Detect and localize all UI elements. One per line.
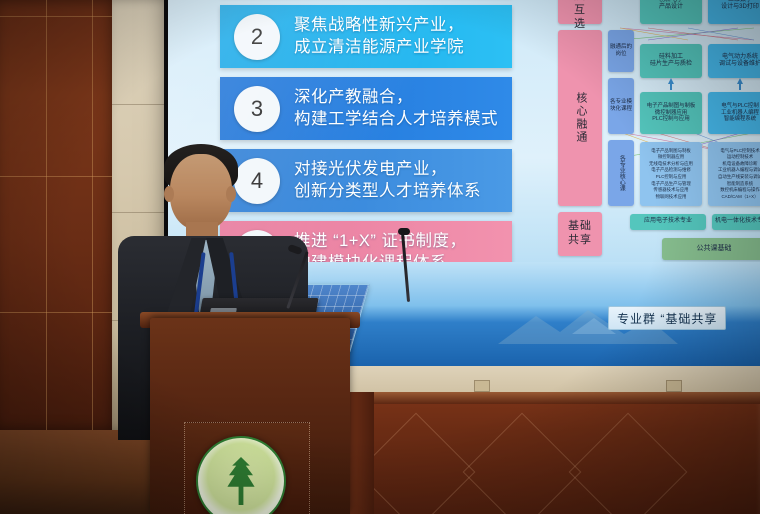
speaker-ear-left — [164, 186, 174, 202]
wall-wood-panel — [0, 0, 118, 430]
speaker-head — [170, 154, 232, 230]
speaker-ear-right — [226, 186, 236, 202]
conference-photo-scene: 构建课程资源框架体系 2 聚焦战略性新兴产业， 成立清洁能源产业学院 3 深化产… — [0, 0, 760, 514]
emblem-tree-icon — [221, 457, 261, 505]
podium — [150, 318, 350, 514]
stage-cap-rail — [318, 392, 760, 404]
stage-front-panel — [330, 396, 760, 514]
microphone-2-head — [398, 228, 410, 235]
